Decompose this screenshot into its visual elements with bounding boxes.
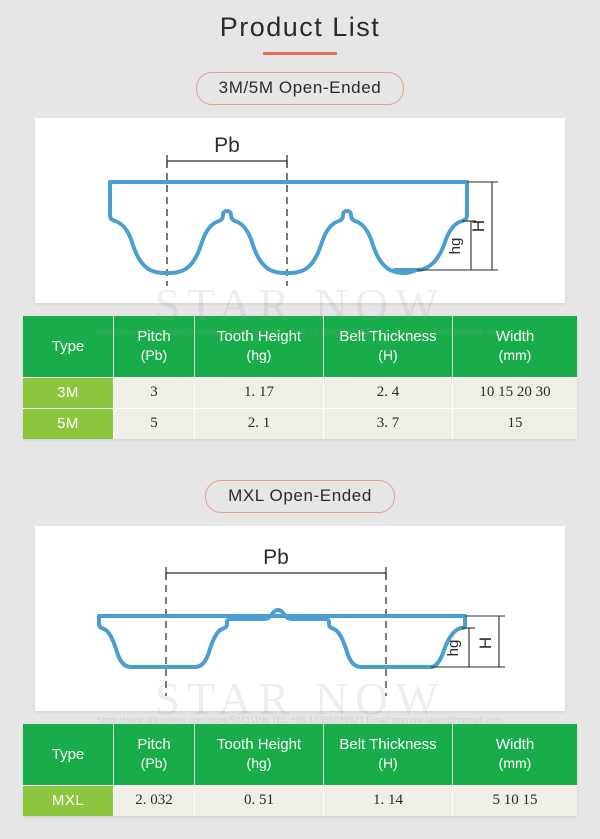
cell-type: MXL [23,786,114,817]
cell-tooth-height: 0. 51 [195,786,324,817]
title-underline [263,52,337,55]
section-badge-mxl: MXL Open-Ended [205,480,395,513]
hg-label-3m5m: hg [447,238,464,255]
table-row: MXL 2. 032 0. 51 1. 14 5 10 15 [23,786,577,817]
cell-tooth-height: 1. 17 [195,378,324,409]
col-header-pitch-sub: (Pb) [116,346,192,365]
col-header-belt-thickness: Belt Thickness (H) [324,724,453,786]
section-badge-3m5m: 3M/5M Open-Ended [196,72,405,105]
cell-pitch: 3 [114,378,195,409]
cell-pitch: 5 [114,409,195,440]
hg-label-mxl: hg [445,640,462,657]
diagram-panel-3m5m: Pb H hg [35,118,565,303]
col-header-belt-thickness-sub: (H) [326,754,450,773]
pb-label-mxl: Pb [263,546,289,569]
col-header-pitch-sub: (Pb) [116,754,192,773]
spec-table-3m5m: Type Pitch (Pb) Tooth Height (hg) Belt T… [23,316,577,439]
cell-type: 5M [23,409,114,440]
col-header-width-text: Width [496,736,534,753]
col-header-tooth-height-text: Tooth Height [217,736,301,753]
col-header-belt-thickness-text: Belt Thickness [339,328,436,345]
col-header-type-text: Type [52,338,85,355]
col-header-tooth-height: Tooth Height (hg) [195,316,324,378]
col-header-width: Width (mm) [453,724,578,786]
col-header-belt-thickness-text: Belt Thickness [339,736,436,753]
cell-width: 5 10 15 [453,786,578,817]
cell-belt-thickness: 3. 7 [324,409,453,440]
cell-belt-thickness: 2. 4 [324,378,453,409]
table-header-row: Type Pitch (Pb) Tooth Height (hg) Belt T… [23,724,577,786]
hg-dimension-mxl [462,628,475,667]
col-header-width-sub: (mm) [455,346,575,365]
col-header-type: Type [23,724,114,786]
cell-width: 15 [453,409,578,440]
section-badge-wrap-3m5m: 3M/5M Open-Ended [0,72,600,105]
col-header-pitch-text: Pitch [137,328,170,345]
col-header-tooth-height-sub: (hg) [197,346,321,365]
pitch-centerlines-mxl [166,573,386,696]
page-title: Product List [0,0,600,55]
page-title-text: Product List [0,0,600,43]
cell-width: 10 15 20 30 [453,378,578,409]
col-header-width-text: Width [496,328,534,345]
col-header-belt-thickness-sub: (H) [326,346,450,365]
diagram-panel-mxl: Pb H hg [35,526,565,711]
col-header-width-sub: (mm) [455,754,575,773]
spec-table-mxl: Type Pitch (Pb) Tooth Height (hg) Belt T… [23,724,577,816]
col-header-type-text: Type [52,746,85,763]
table-header-row: Type Pitch (Pb) Tooth Height (hg) Belt T… [23,316,577,378]
col-header-tooth-height-sub: (hg) [197,754,321,773]
cell-pitch: 2. 032 [114,786,195,817]
col-header-pitch: Pitch (Pb) [114,724,195,786]
section-badge-wrap-mxl: MXL Open-Ended [0,480,600,513]
table-row: 3M 3 1. 17 2. 4 10 15 20 30 [23,378,577,409]
col-header-belt-thickness: Belt Thickness (H) [324,316,453,378]
cell-belt-thickness: 1. 14 [324,786,453,817]
belt-profile-3m5m [110,182,467,273]
belt-profile-mxl [99,610,465,667]
col-header-width: Width (mm) [453,316,578,378]
mxl-belt-diagram: Pb H hg [35,526,565,711]
cell-tooth-height: 2. 1 [195,409,324,440]
col-header-tooth-height: Tooth Height (hg) [195,724,324,786]
pb-label-3m5m: Pb [214,134,240,157]
col-header-type: Type [23,316,114,378]
col-header-tooth-height-text: Tooth Height [217,328,301,345]
table-row: 5M 5 2. 1 3. 7 15 [23,409,577,440]
htd-belt-diagram: Pb H hg [35,118,565,303]
col-header-pitch: Pitch (Pb) [114,316,195,378]
h-label-3m5m: H [469,220,488,232]
col-header-pitch-text: Pitch [137,736,170,753]
h-label-mxl: H [476,637,495,649]
cell-type: 3M [23,378,114,409]
